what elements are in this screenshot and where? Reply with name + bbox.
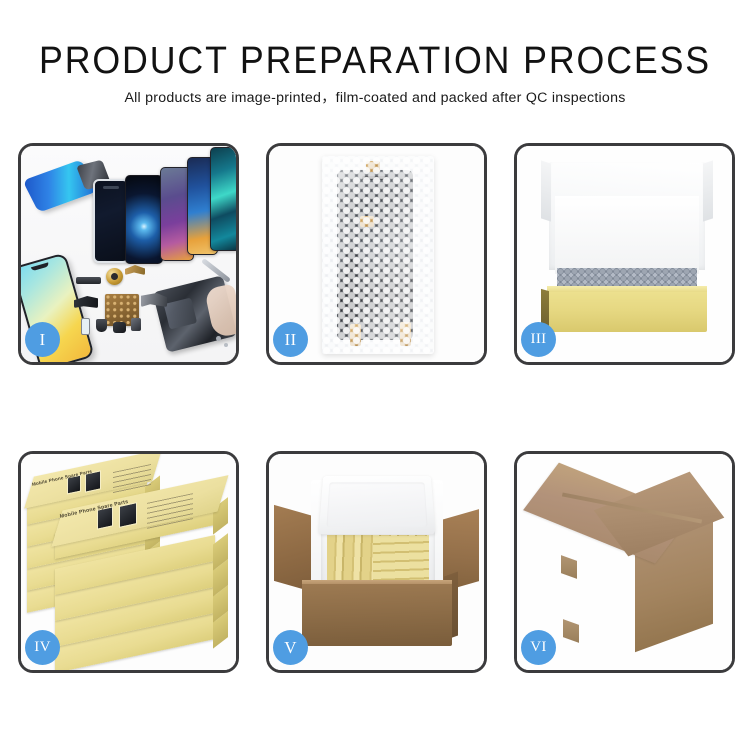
panel-stacked-printed-boxes: Mobile Phone Spare Parts Mobile Phone Sp… [18,451,239,673]
step-badge-v: V [273,630,308,665]
panel-products-and-spare-parts: I [18,143,239,365]
flex-screen-blue-icon [22,159,97,212]
panel-bubble-wrapped-part: II [266,143,487,365]
plastic-gloss-overlay [322,156,434,354]
header: PRODUCT PREPARATION PROCESS All products… [0,0,750,107]
small-component-part-icon [81,318,90,335]
phone-teal-swirl-icon [210,147,236,251]
carton-front-panel-icon [302,584,452,646]
foam-cavity-icon [321,530,435,586]
step-badge-i: I [25,322,60,357]
step-badge-vi: VI [521,630,556,665]
tempered-glass-protector-icon [93,179,129,263]
retail-boxes-row-icon [373,536,429,580]
bubble-bag-icon [322,156,434,354]
flex-cable-gold-part-icon [125,265,145,275]
step-badge-iv: IV [25,630,60,665]
page-title: PRODUCT PREPARATION PROCESS [23,41,728,81]
panel-sealed-shipping-carton: VI [514,451,735,673]
page-subtitle: All products are image-printed，film-coat… [0,90,750,107]
taptic-coil-part-icon [106,268,123,285]
foam-lid-icon [319,476,436,534]
screw-icon [224,343,228,347]
step-badge-ii: II [273,322,308,357]
small-component-part-icon [113,322,126,333]
process-step-grid: I II [18,143,736,673]
small-component-part-icon [131,318,141,331]
foam-sheet-icon [555,196,699,274]
panel-foam-lined-carton: III [514,143,735,365]
step-badge-iii: III [521,322,556,357]
screw-icon [216,336,221,341]
small-component-part-icon [96,319,107,332]
panel-master-carton-loading: V [266,451,487,673]
carton-front-panel-icon [547,292,707,332]
speaker-bar-part-icon [76,277,101,284]
product-preparation-process-page: PRODUCT PREPARATION PROCESS All products… [0,0,750,750]
phone-blue-burst-icon [125,175,163,264]
